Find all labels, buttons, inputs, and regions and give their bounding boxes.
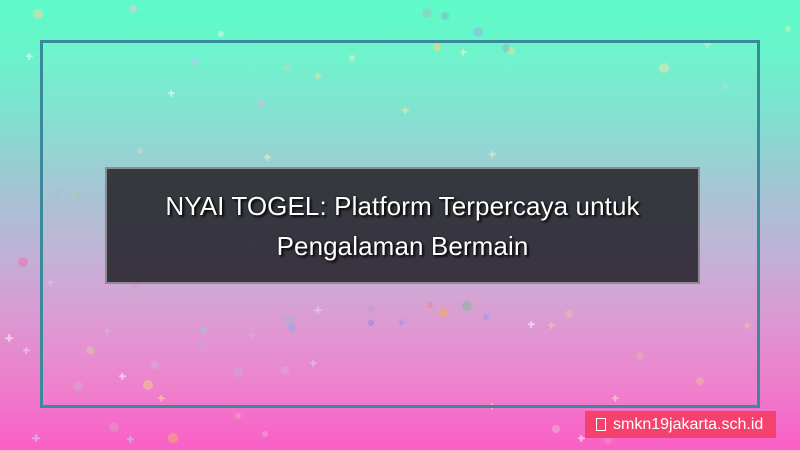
page-title: NYAI TOGEL: Platform Terpercaya untuk Pe…	[153, 186, 651, 266]
confetti-sparkle	[5, 334, 13, 342]
source-badge[interactable]: smkn19jakarta.sch.id	[585, 411, 776, 438]
confetti-dot	[18, 257, 28, 267]
title-line-1: NYAI TOGEL: Platform Terpercaya untuk	[165, 191, 639, 221]
confetti-sparkle	[578, 435, 585, 442]
confetti-dot	[552, 425, 560, 433]
confetti-dot	[218, 31, 224, 37]
confetti-dot	[441, 12, 449, 20]
confetti-dot	[262, 431, 268, 437]
confetti-dot	[235, 413, 241, 419]
confetti-dot	[168, 433, 178, 443]
confetti-dot	[473, 27, 483, 37]
link-box-icon	[596, 418, 606, 431]
confetti-dot	[785, 26, 791, 32]
confetti-dot	[129, 5, 137, 13]
confetti-dot	[109, 422, 119, 432]
title-line-2: Pengalaman Bermain	[277, 231, 529, 261]
promo-banner: NYAI TOGEL: Platform Terpercaya untuk Pe…	[0, 0, 800, 450]
confetti-sparkle	[23, 347, 30, 354]
confetti-dot	[33, 9, 43, 19]
confetti-sparkle	[26, 53, 33, 60]
title-plate: NYAI TOGEL: Platform Terpercaya untuk Pe…	[105, 167, 700, 284]
confetti-dot	[422, 8, 432, 18]
source-badge-label: smkn19jakarta.sch.id	[613, 411, 763, 438]
confetti-sparkle	[127, 436, 134, 443]
confetti-sparkle	[32, 434, 40, 442]
